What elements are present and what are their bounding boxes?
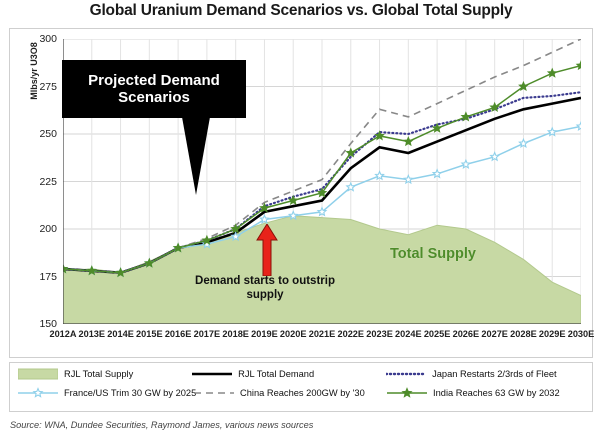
y-tick-label: 275 xyxy=(39,81,57,93)
legend-item-india[interactable]: India Reaches 63 GW by 2032 xyxy=(387,387,584,399)
x-tick-label: 2019E xyxy=(251,329,278,339)
legend-label-france: France/US Trim 30 GW by 2025 xyxy=(64,388,196,398)
legend-row-top: RJL Total SupplyRJL Total DemandJapan Re… xyxy=(18,368,584,380)
legend-item-france[interactable]: France/US Trim 30 GW by 2025 xyxy=(18,387,194,399)
chart-page: Global Uranium Demand Scenarios vs. Glob… xyxy=(0,0,602,444)
x-tick-label: 2022E xyxy=(337,329,364,339)
legend-label-demand: RJL Total Demand xyxy=(238,369,314,379)
x-tick-label: 2030E xyxy=(568,329,595,339)
legend-swatch-france xyxy=(18,387,58,399)
legend-item-supply[interactable]: RJL Total Supply xyxy=(18,368,192,380)
x-tick-label: 2017E xyxy=(194,329,221,339)
legend-label-china: China Reaches 200GW by '30 xyxy=(240,388,365,398)
x-tick-label: 2015E xyxy=(136,329,163,339)
x-tick-label: 2016E xyxy=(165,329,192,339)
x-tick-label: 2023E xyxy=(366,329,393,339)
source-note: Source: WNA, Dundee Securities, Raymond … xyxy=(10,420,313,430)
y-tick-label: 200 xyxy=(39,223,57,235)
total-supply-label: Total Supply xyxy=(390,246,476,262)
x-tick-label: 2018E xyxy=(222,329,249,339)
chart-legend: RJL Total SupplyRJL Total DemandJapan Re… xyxy=(9,362,593,412)
x-tick-label: 2014E xyxy=(107,329,134,339)
legend-label-supply: RJL Total Supply xyxy=(64,369,133,379)
legend-swatch-supply xyxy=(18,368,58,380)
legend-item-china[interactable]: China Reaches 200GW by '30 xyxy=(194,387,387,399)
page-title: Global Uranium Demand Scenarios vs. Glob… xyxy=(0,2,602,20)
y-tick-label: 225 xyxy=(39,176,57,188)
x-tick-label: 2013E xyxy=(78,329,105,339)
y-tick-label: 250 xyxy=(39,128,57,140)
x-tick-label: 2028E xyxy=(510,329,537,339)
x-tick-label: 2026E xyxy=(453,329,480,339)
legend-swatch-china xyxy=(194,387,234,399)
x-tick-label: 2024E xyxy=(395,329,422,339)
legend-item-demand[interactable]: RJL Total Demand xyxy=(192,368,386,380)
x-tick-label: 2012A xyxy=(49,329,76,339)
legend-swatch-demand xyxy=(192,368,232,380)
x-tick-label: 2020E xyxy=(280,329,307,339)
red-arrow-icon xyxy=(256,224,278,276)
callout-pointer xyxy=(182,117,210,195)
legend-swatch-india xyxy=(387,387,427,399)
x-tick-label: 2025E xyxy=(424,329,451,339)
legend-row-bottom: France/US Trim 30 GW by 2025China Reache… xyxy=(18,387,584,399)
y-tick-label: 175 xyxy=(39,271,57,283)
legend-swatch-japan xyxy=(386,368,426,380)
x-tick-label: 2027E xyxy=(481,329,508,339)
arrow-annotation-label: Demand starts to outstrip supply xyxy=(185,274,345,303)
y-tick-label: 300 xyxy=(39,33,57,45)
legend-label-japan: Japan Restarts 2/3rds of Fleet xyxy=(432,369,557,379)
y-axis-label: Mlbs/yr U3O8 xyxy=(29,11,39,131)
callout-box: Projected Demand Scenarios xyxy=(62,60,246,118)
legend-item-japan[interactable]: Japan Restarts 2/3rds of Fleet xyxy=(386,368,584,380)
x-tick-label: 2029E xyxy=(539,329,566,339)
x-tick-label: 2021E xyxy=(309,329,336,339)
legend-label-india: India Reaches 63 GW by 2032 xyxy=(433,388,560,398)
